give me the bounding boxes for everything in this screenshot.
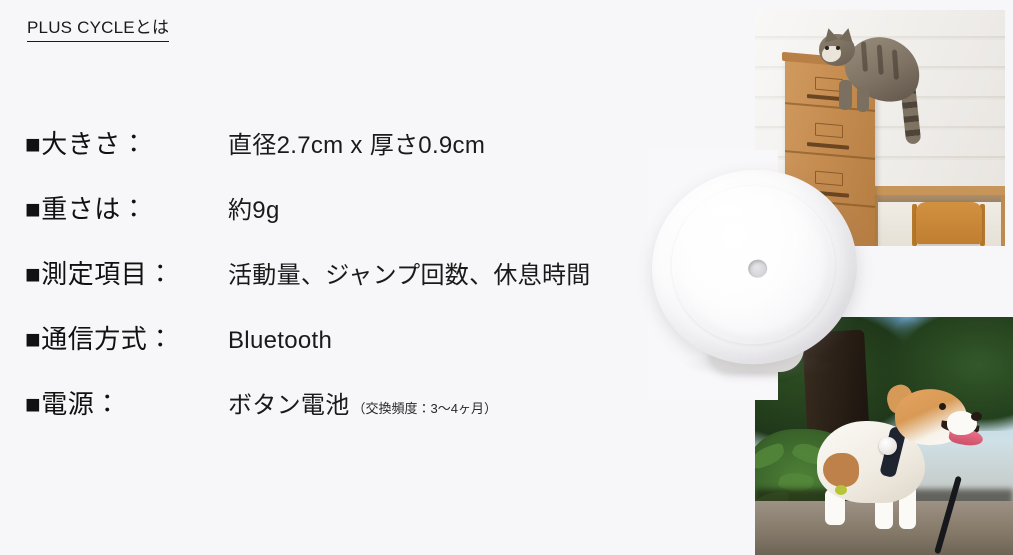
dog-nose [971,412,982,421]
spec-row-measurement-items: ■測定項目： 活動量、ジャンプ回数、休息時間 [0,258,660,323]
spec-label: ■大きさ： [25,128,147,160]
spec-row-size: ■大きさ： 直径2.7cm x 厚さ0.9cm [0,128,660,193]
cat-leg [857,86,869,112]
spec-value: 直径2.7cm x 厚さ0.9cm [228,131,485,161]
cat-leg [839,80,852,110]
spec-value-note: （交換頻度：3〜4ヶ月） [353,401,497,416]
chair-back [916,202,982,244]
spec-list: ■大きさ： 直径2.7cm x 厚さ0.9cm ■重さは： 約9g ■測定項目：… [0,128,660,453]
page-title: PLUS CYCLEとは [27,17,169,42]
dog-tag [835,485,847,495]
drawer-divider [785,150,875,159]
device-center-hole [747,259,768,279]
spec-value: 約9g [228,196,280,226]
cat-eye [825,46,829,50]
spec-value: ボタン電池（交換頻度：3〜4ヶ月） [228,391,497,424]
spec-row-weight: ■重さは： 約9g [0,193,660,258]
cat-stripe [861,42,868,72]
cat-ear [822,26,839,42]
spec-label: ■測定項目： [25,258,174,290]
cat-ear [839,27,855,43]
spec-label: ■通信方式： [25,323,174,355]
desk-leg [1001,195,1005,246]
device-outer-ring [642,160,866,374]
cat-figure [817,28,935,148]
cat-stripe [877,45,884,75]
dog-eye [939,403,946,410]
spec-value: Bluetooth [228,326,332,356]
dog-figure [813,379,983,529]
spec-value-text: ボタン電池 [228,392,350,419]
desk-top [867,186,1005,195]
spec-label: ■重さは： [25,193,147,225]
spec-value: 活動量、ジャンプ回数、休息時間 [228,261,591,291]
spec-value-text: 直径2.7cm x 厚さ0.9cm [228,132,485,159]
cat-head [819,34,855,66]
spec-row-communication: ■通信方式： Bluetooth [0,323,660,388]
cat-stripe [892,49,899,79]
spec-value-text: 約9g [228,197,280,224]
spec-label: ■電源： [25,388,121,420]
plus-cycle-device-on-collar [879,437,897,455]
leaf [755,442,787,470]
cat-eye [836,46,840,50]
wooden-chair [910,202,988,246]
dog-coat-patch [823,453,859,487]
spec-row-power: ■電源： ボタン電池（交換頻度：3〜4ヶ月） [0,388,660,453]
spec-value-text: 活動量、ジャンプ回数、休息時間 [228,262,591,289]
slide-root: PLUS CYCLEとは [0,0,1013,555]
device-face [664,178,843,352]
plus-cycle-device [648,166,864,388]
spec-value-text: Bluetooth [228,327,332,354]
